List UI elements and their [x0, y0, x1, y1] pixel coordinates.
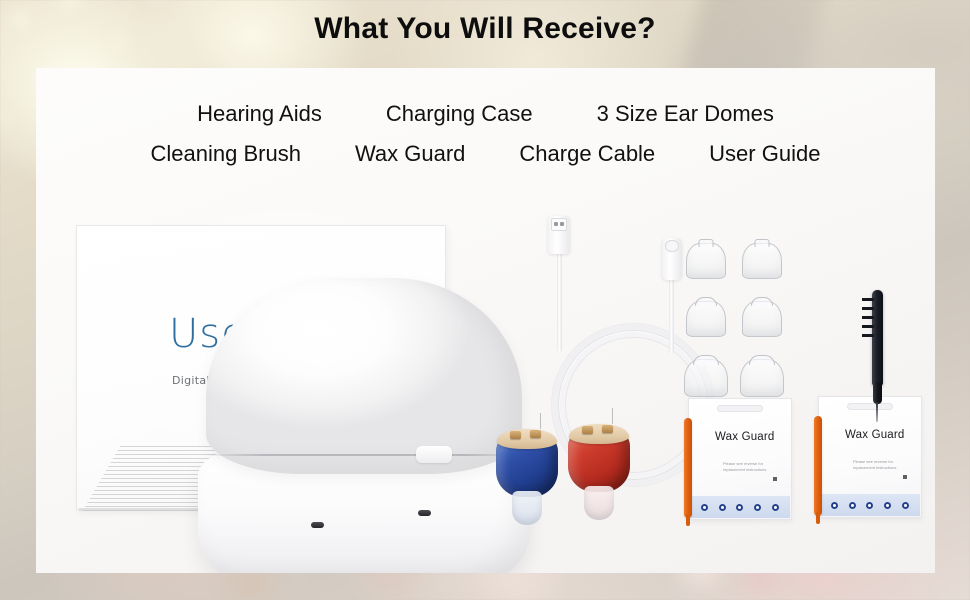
charging-case-seam — [206, 454, 522, 456]
product-panel: Hearing Aids Charging Case 3 Size Ear Do… — [36, 68, 935, 573]
hearing-aid-dome — [584, 486, 614, 520]
charging-case — [198, 278, 530, 573]
charging-pin — [510, 431, 521, 439]
charging-case-lid — [206, 278, 522, 474]
wax-guard-dot — [719, 504, 726, 511]
charging-pin — [602, 425, 613, 433]
hearing-aid-right — [568, 418, 630, 522]
label-charging-case: Charging Case — [386, 101, 533, 127]
ear-dome-large — [684, 359, 728, 397]
wax-guard-note: Please see reverse for replacement instr… — [723, 461, 785, 473]
hearing-aid-left — [496, 423, 558, 527]
ear-dome-medium — [742, 301, 782, 337]
wax-guard-label: Wax Guard — [845, 429, 905, 441]
cable-wire-usb-a — [557, 252, 562, 352]
hearing-aid-wire — [612, 408, 613, 424]
wax-guard-label: Wax Guard — [715, 431, 775, 443]
wax-guard-hang-hole — [717, 405, 763, 412]
charging-case-led-indicator — [311, 522, 324, 528]
wax-guard-dot — [902, 502, 909, 509]
wax-guard-dot — [849, 502, 856, 509]
label-cleaning-brush: Cleaning Brush — [151, 141, 301, 167]
wax-guard-dot — [884, 502, 891, 509]
ear-dome-small — [742, 243, 782, 279]
contents-label-row-1: Hearing Aids Charging Case 3 Size Ear Do… — [36, 68, 935, 127]
charging-case-led-indicator — [418, 510, 431, 516]
cable-wire-usb-c — [669, 276, 674, 354]
wax-guard-tool — [814, 416, 822, 516]
cleaning-brush-neck — [873, 382, 882, 404]
charging-case-latch — [416, 446, 452, 463]
wax-guard-dot — [772, 504, 779, 511]
wax-guard-mark — [773, 477, 777, 481]
hearing-aid-faceplate — [497, 429, 557, 449]
wax-guard-card: Wax Guard Please see reverse for replace… — [688, 398, 792, 520]
charging-pin — [530, 430, 541, 438]
wax-guard-dot — [736, 504, 743, 511]
wax-guard-packet: Wax Guard Please see reverse for replace… — [688, 398, 792, 520]
page-title: What You Will Receive? — [0, 12, 970, 46]
label-wax-guard: Wax Guard — [355, 141, 465, 167]
label-charge-cable: Charge Cable — [519, 141, 655, 167]
usb-c-connector — [662, 238, 682, 280]
wax-guard-dot-strip — [690, 496, 790, 518]
contents-label-row-2: Cleaning Brush Wax Guard Charge Cable Us… — [36, 127, 935, 167]
wax-guard-dot-strip — [820, 494, 920, 516]
ear-dome-large — [740, 359, 784, 397]
wax-guard-dot — [866, 502, 873, 509]
wax-guard-dot — [754, 504, 761, 511]
wax-guard-note: Please see reverse for replacement instr… — [853, 459, 915, 471]
hearing-aid-wire — [540, 413, 541, 429]
contents-labels: Hearing Aids Charging Case 3 Size Ear Do… — [36, 68, 935, 167]
wax-guard-dot — [701, 504, 708, 511]
wax-guard-tool — [684, 418, 692, 518]
ear-dome-medium — [686, 301, 726, 337]
label-ear-domes: 3 Size Ear Domes — [597, 101, 774, 127]
cleaning-brush-bristles — [862, 298, 874, 340]
wax-guard-mark — [903, 475, 907, 479]
infographic-stage: What You Will Receive? Hearing Aids Char… — [0, 0, 970, 600]
hearing-aid-faceplate — [569, 424, 629, 444]
cleaning-brush — [862, 290, 888, 420]
label-hearing-aids: Hearing Aids — [197, 101, 322, 127]
ear-domes-group — [686, 243, 796, 403]
ear-dome-small — [686, 243, 726, 279]
usb-c-contacts — [665, 240, 679, 252]
charging-pin — [582, 426, 593, 434]
usb-a-connector — [548, 216, 570, 254]
cleaning-brush-wire-pick — [876, 402, 878, 422]
label-user-guide: User Guide — [709, 141, 820, 167]
wax-guard-dot — [831, 502, 838, 509]
usb-a-contacts — [551, 218, 567, 231]
hearing-aid-dome — [512, 491, 542, 525]
